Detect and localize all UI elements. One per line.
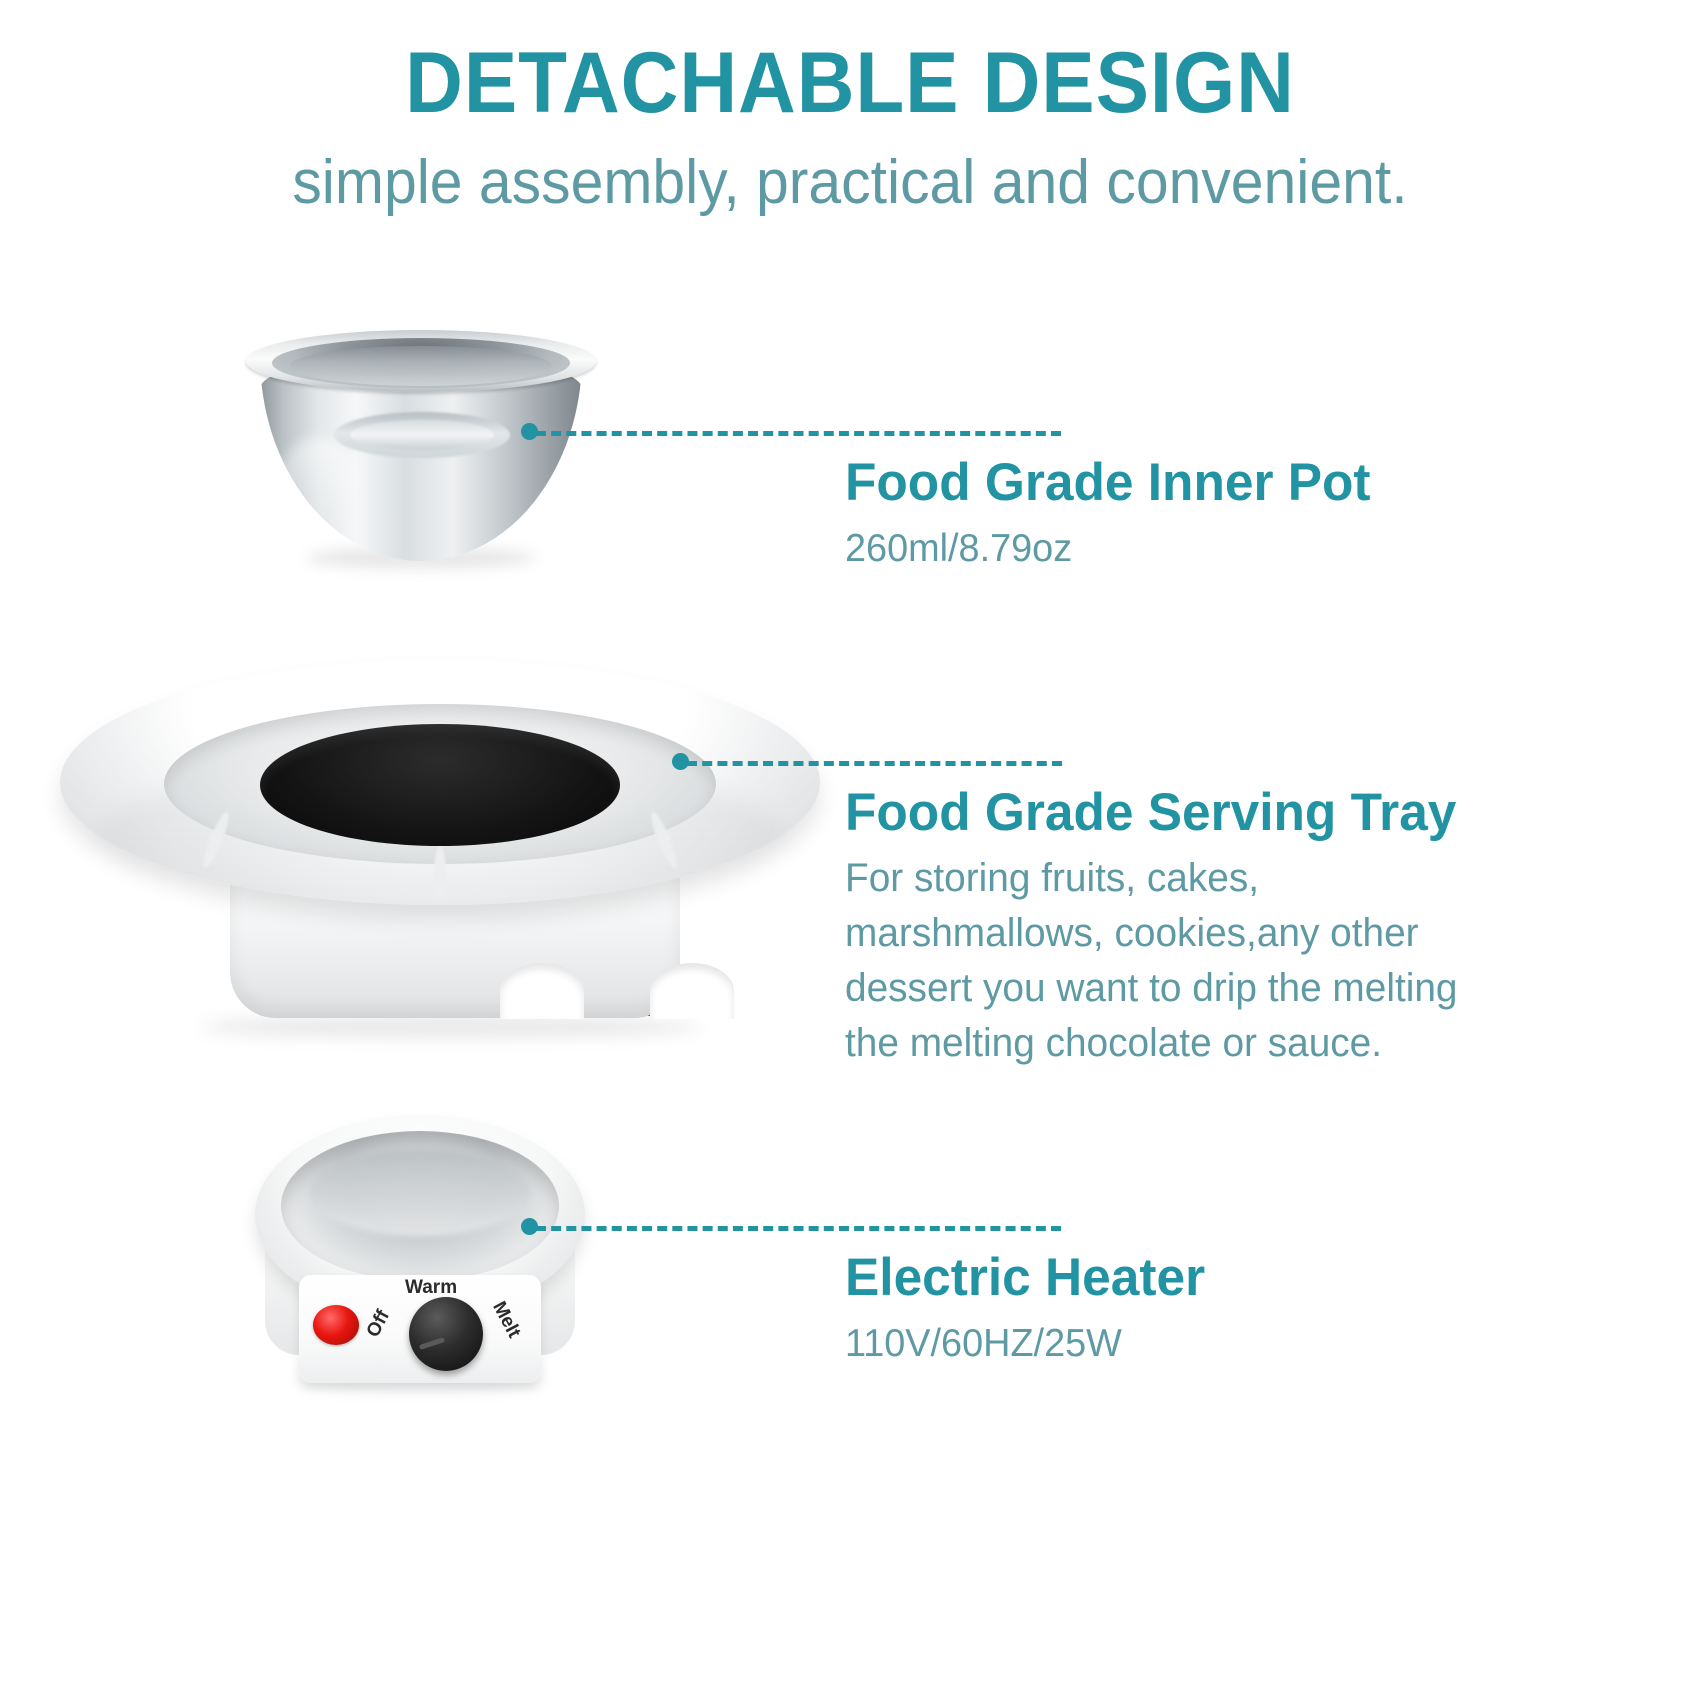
serving-tray-description-line-2: marshmallows, cookies,any other <box>845 906 1543 961</box>
serving-tray-divider-bottom <box>434 846 446 898</box>
electric-heater-cavity <box>281 1131 559 1281</box>
serving-tray-description-line-4: the melting chocolate or sauce. <box>845 1016 1543 1071</box>
inner-pot-spec: 260ml/8.79oz <box>845 511 1524 574</box>
serving-tray-text: Food Grade Serving Tray For storing frui… <box>845 785 1565 1071</box>
knob-label-off: Off <box>363 1307 395 1342</box>
electric-heater-spec: 110V/60HZ/25W <box>845 1306 1524 1369</box>
page-title: DETACHABLE DESIGN <box>60 0 1641 126</box>
knob-label-melt: Melt <box>487 1298 524 1342</box>
inner-pot-heading: Food Grade Inner Pot <box>845 455 1524 511</box>
electric-heater-image: Off Warm Melt <box>255 1115 585 1425</box>
inner-pot-image <box>246 330 596 570</box>
serving-tray-image <box>60 660 820 1060</box>
serving-tray-shadow <box>200 1016 700 1038</box>
electric-heater-heading: Electric Heater <box>845 1250 1524 1306</box>
electric-heater-text: Electric Heater 110V/60HZ/25W <box>845 1250 1545 1369</box>
serving-tray-notch-right <box>650 963 734 1019</box>
callout-line-serving-tray <box>687 761 1062 766</box>
temperature-control-knob[interactable] <box>409 1297 483 1371</box>
serving-tray-description-line-3: dessert you want to drip the melting <box>845 961 1543 1016</box>
page-subtitle: simple assembly, practical and convenien… <box>43 126 1658 214</box>
serving-tray-center-hole <box>260 724 620 846</box>
serving-tray-description-line-1: For storing fruits, cakes, <box>845 851 1543 906</box>
serving-tray-description: For storing fruits, cakes, marshmallows,… <box>845 841 1543 1072</box>
header: DETACHABLE DESIGN simple assembly, pract… <box>0 0 1700 214</box>
serving-tray-heading: Food Grade Serving Tray <box>845 785 1543 841</box>
electric-heater-control-panel: Off Warm Melt <box>299 1275 541 1383</box>
callout-line-electric-heater <box>536 1226 1061 1231</box>
callout-line-inner-pot <box>536 431 1061 436</box>
power-indicator-light <box>313 1305 359 1345</box>
inner-pot-cavity-highlight <box>290 346 552 386</box>
knob-label-warm: Warm <box>405 1277 457 1299</box>
inner-pot-base-ring-inner <box>350 420 494 450</box>
inner-pot-text: Food Grade Inner Pot 260ml/8.79oz <box>845 455 1545 574</box>
serving-tray-notch-left <box>500 963 584 1019</box>
